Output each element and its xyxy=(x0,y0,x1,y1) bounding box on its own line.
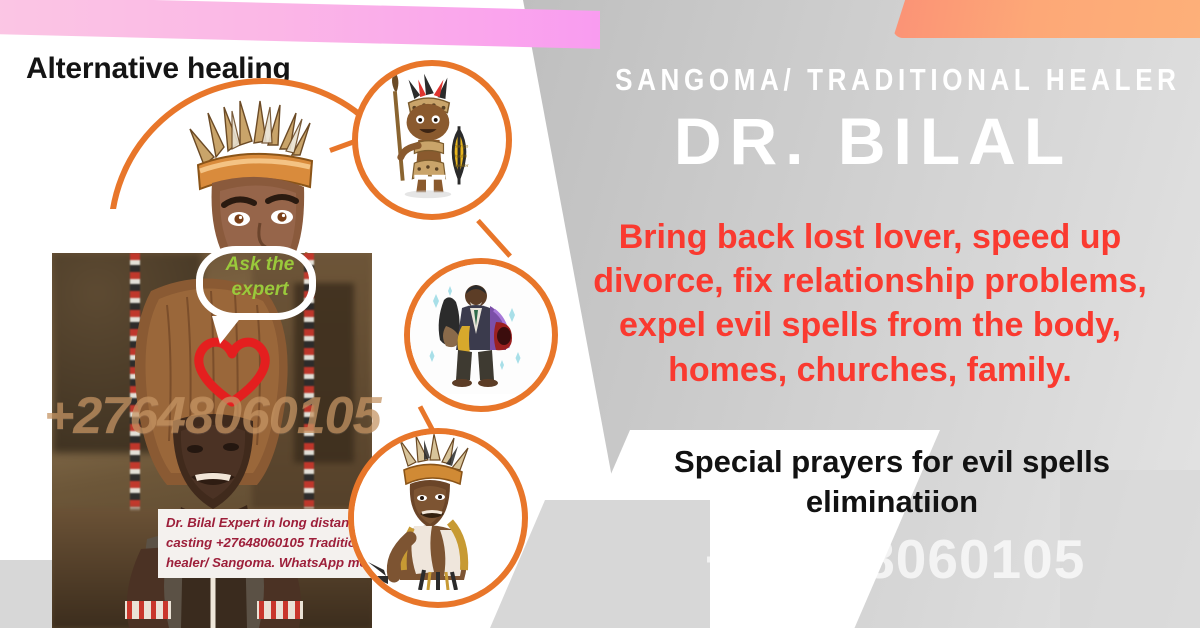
poster-canvas: Alternative healing xyxy=(0,0,1200,628)
healer-name: DR. BILAL xyxy=(566,103,1180,179)
speech-bubble-text: Ask the expert xyxy=(204,252,316,302)
svg-text:healer: healer xyxy=(455,163,469,169)
subheading-text: Special prayers for evil spells eliminat… xyxy=(600,442,1184,521)
crouching-warrior-icon xyxy=(348,428,528,608)
services-text: Bring back lost lover, speed up divorce,… xyxy=(556,215,1184,392)
caption-line-2: casting +27648060105 Traditio xyxy=(166,533,380,553)
svg-text:sango: sango xyxy=(455,145,469,150)
kicker-text: SANGOMA/ TRADITIONAL HEALER xyxy=(615,62,1131,98)
contact-phone: +27648060105 xyxy=(600,527,1190,591)
svg-text:traditi: traditi xyxy=(455,153,467,159)
zulu-warrior-cartoon-icon: sangotraditihealer xyxy=(352,60,512,220)
traveling-healer-icon xyxy=(404,258,558,412)
caption-line-3: healer/ Sangoma. WhatsApp me xyxy=(166,553,380,573)
connector-line-2 xyxy=(476,219,512,258)
watermark-phone: +27648060105 xyxy=(44,386,381,446)
top-pink-band xyxy=(0,0,600,49)
top-right-orange-block xyxy=(893,0,1200,38)
